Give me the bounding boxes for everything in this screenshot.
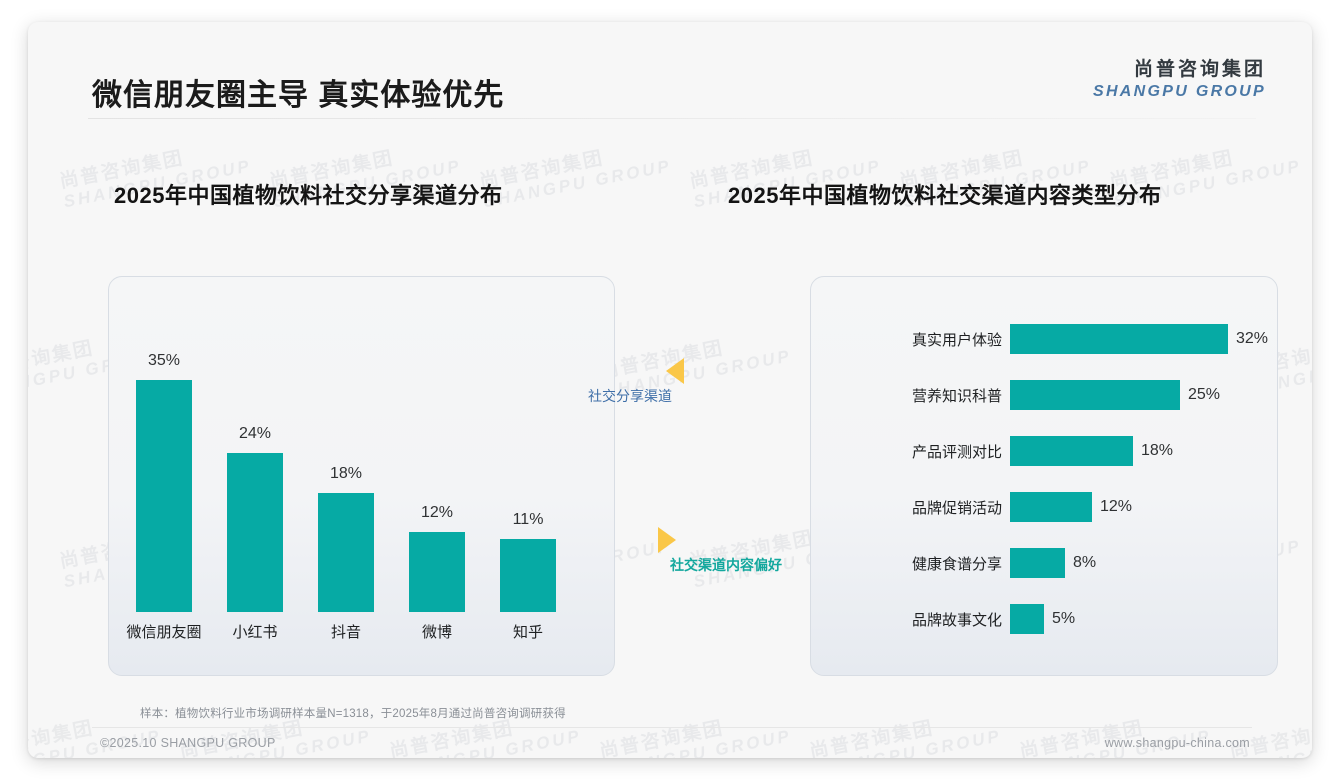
source-note: 样本：植物饮料行业市场调研样本量N=1318，于2025年8月通过尚普咨询调研获… [140, 705, 566, 721]
bar-value-label: 11% [513, 511, 544, 529]
copyright-text: ©2025.10 SHANGPU GROUP [100, 736, 276, 750]
logo-english-text: SHANGPU GROUP [1093, 82, 1266, 101]
bar-group[interactable]: 35%微信朋友圈 [136, 380, 192, 612]
bar[interactable] [1010, 324, 1228, 354]
bar-group[interactable]: 11%知乎 [500, 539, 556, 612]
bar[interactable] [1010, 380, 1180, 410]
bar-value-label: 12% [1100, 498, 1132, 516]
bar-value-label: 5% [1052, 610, 1075, 628]
bar-row[interactable]: 产品评测对比18% [810, 436, 1276, 466]
bar-row[interactable]: 品牌促销活动12% [810, 492, 1276, 522]
bar-category-label: 知乎 [513, 621, 543, 642]
bar-category-label: 小红书 [232, 621, 277, 642]
right-chart-title: 2025年中国植物饮料社交渠道内容类型分布 [728, 178, 1161, 210]
bar-category-label: 真实用户体验 [810, 329, 1002, 350]
bar-value-label: 18% [330, 465, 362, 483]
horizontal-bar-chart: 真实用户体验32%营养知识科普25%产品评测对比18%品牌促销活动12%健康食谱… [810, 276, 1276, 674]
bar-value-label: 35% [148, 352, 180, 370]
bar[interactable] [1010, 492, 1092, 522]
bar[interactable] [227, 453, 283, 612]
bar-row[interactable]: 真实用户体验32% [810, 324, 1276, 354]
footer-divider [92, 727, 1252, 728]
bar[interactable] [136, 380, 192, 612]
triangle-right-icon [658, 527, 676, 553]
brand-logo: 尚普咨询集团 SHANGPU GROUP [1093, 58, 1266, 101]
bar-group[interactable]: 18%抖音 [318, 493, 374, 612]
bar-value-label: 12% [421, 504, 453, 522]
bar-category-label: 品牌故事文化 [810, 609, 1002, 630]
bar[interactable] [318, 493, 374, 612]
bar-row[interactable]: 品牌故事文化5% [810, 604, 1276, 634]
bar[interactable] [1010, 604, 1044, 634]
bar-category-label: 抖音 [331, 621, 361, 642]
bar-category-label: 营养知识科普 [810, 385, 1002, 406]
slide-header: 微信朋友圈主导 真实体验优先 尚普咨询集团 SHANGPU GROUP [28, 22, 1312, 114]
bar-category-label: 产品评测对比 [810, 441, 1002, 462]
bar-category-label: 微博 [422, 621, 452, 642]
bar-value-label: 25% [1188, 386, 1220, 404]
bar[interactable] [500, 539, 556, 612]
bar-value-label: 18% [1141, 442, 1173, 460]
triangle-left-icon [666, 358, 684, 384]
left-chart-title: 2025年中国植物饮料社交分享渠道分布 [114, 178, 502, 210]
logo-chinese-text: 尚普咨询集团 [1093, 58, 1266, 82]
bar-group[interactable]: 12%微博 [409, 532, 465, 612]
bar-value-label: 8% [1073, 554, 1096, 572]
bar[interactable] [409, 532, 465, 612]
bar-row[interactable]: 健康食谱分享8% [810, 548, 1276, 578]
bar-category-label: 品牌促销活动 [810, 497, 1002, 518]
page-title: 微信朋友圈主导 真实体验优先 [92, 70, 504, 114]
bar-group[interactable]: 24%小红书 [227, 453, 283, 612]
annotation-label-a: 社交分享渠道 [588, 386, 672, 406]
bar-category-label: 健康食谱分享 [810, 553, 1002, 574]
bar[interactable] [1010, 436, 1133, 466]
bar-row[interactable]: 营养知识科普25% [810, 380, 1276, 410]
bar-value-label: 32% [1236, 330, 1268, 348]
vertical-bar-chart: 35%微信朋友圈24%小红书18%抖音12%微博11%知乎 [108, 276, 613, 674]
website-text: www.shangpu-china.com [1105, 736, 1250, 750]
slide-canvas: 尚普咨询集团SHANGPU GROUP尚普咨询集团SHANGPU GROUP尚普… [28, 22, 1312, 758]
annotation-label-b: 社交渠道内容偏好 [670, 555, 782, 575]
bar-value-label: 24% [239, 425, 271, 443]
bar[interactable] [1010, 548, 1065, 578]
bar-category-label: 微信朋友圈 [126, 621, 201, 642]
